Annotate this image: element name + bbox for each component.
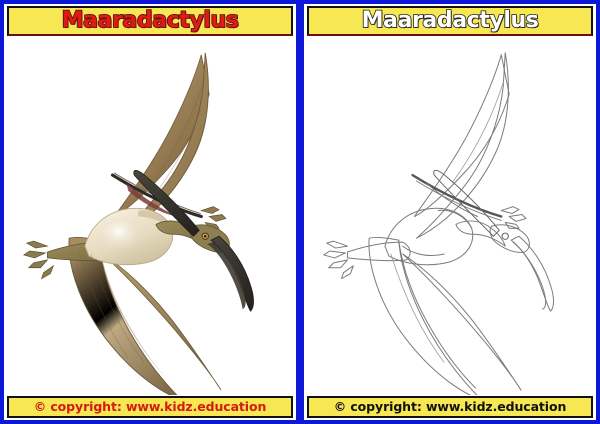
belly-highlight [103, 220, 142, 252]
color-panel-copyright: © copyright: www.kidz.education [34, 401, 267, 414]
outline-hind-foot-claws [324, 241, 354, 278]
hind-foot-claws [24, 241, 54, 278]
eye-pupil [204, 235, 207, 238]
outline-panel-canvas [307, 37, 593, 396]
outline-membrane-veins [391, 82, 503, 362]
outline-panel-footer: © copyright: www.kidz.education [307, 396, 593, 418]
outline-shoulder [438, 210, 472, 228]
outline-panel-copyright: © copyright: www.kidz.education [334, 401, 567, 414]
outline-head [490, 225, 529, 253]
outline-torso [385, 208, 473, 264]
outline-panel: Maaradactylus [300, 0, 600, 424]
outline-beak [511, 236, 553, 311]
pterosaur-figure [24, 53, 254, 395]
pterosaur-outline-figure [324, 53, 554, 395]
outline-panel-title: Maaradactylus [362, 10, 539, 32]
color-panel: Maaradactylus [0, 0, 300, 424]
outline-upper-wing-near [416, 53, 508, 238]
maaradactylus-color-illustration [8, 38, 292, 395]
color-panel-title: Maaradactylus [62, 10, 239, 32]
outline-eye [502, 233, 508, 239]
color-panel-title-bar: Maaradactylus [7, 6, 293, 36]
maaradactylus-outline-illustration [308, 38, 592, 395]
outline-upper-wing-far [415, 55, 510, 217]
worksheet-page: Maaradactylus [0, 0, 600, 424]
outline-lower-wing-inner-panel [399, 240, 476, 388]
color-panel-footer: © copyright: www.kidz.education [7, 396, 293, 418]
outline-lower-wing-far [403, 254, 521, 390]
outline-panel-title-bar: Maaradactylus [307, 6, 593, 36]
color-panel-canvas [7, 37, 293, 396]
